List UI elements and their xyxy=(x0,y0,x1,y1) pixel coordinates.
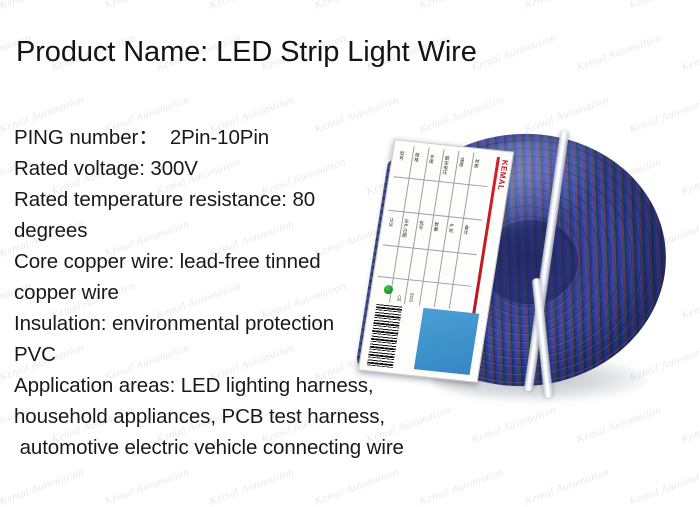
spec-line: degrees xyxy=(14,215,534,246)
watermark-text: Kemal Automation xyxy=(313,466,401,507)
watermark-text: Kemal Automation xyxy=(680,280,700,322)
watermark-text: Kemal Automation xyxy=(0,0,86,12)
watermark-text: Kemal Automation xyxy=(418,0,506,12)
watermark-text: Kemal Automation xyxy=(628,0,700,12)
spec-line: PVC xyxy=(14,339,534,370)
watermark-text: Kemal Automation xyxy=(470,32,558,74)
watermark-text: Kemal Automation xyxy=(680,32,700,74)
watermark-text: Kemal Automation xyxy=(0,466,86,507)
watermark-text: Kemal Automation xyxy=(103,466,191,507)
watermark-text: Kemal Automation xyxy=(208,0,296,12)
watermark-text: Kemal Automation xyxy=(523,466,611,507)
page-title: Product Name: LED Strip Light Wire xyxy=(16,36,477,69)
spec-line: Rated temperature resistance: 80 xyxy=(14,184,534,215)
watermark-text: Kemal Automation xyxy=(680,404,700,446)
spec-line: PING number： 2Pin-10Pin xyxy=(14,122,534,153)
watermark-text: Kemal Automation xyxy=(418,466,506,507)
watermark-text: Kemal Automation xyxy=(103,0,191,12)
spec-line: Insulation: environmental protection xyxy=(14,308,534,339)
watermark-text: Kemal Automation xyxy=(680,156,700,198)
watermark-text: Kemal Automation xyxy=(575,32,663,74)
specification-list: PING number： 2Pin-10Pin Rated voltage: 3… xyxy=(14,122,534,463)
spec-line: copper wire xyxy=(14,277,534,308)
spec-line: Core copper wire: lead-free tinned xyxy=(14,246,534,277)
watermark-text: Kemal Automation xyxy=(628,466,700,507)
watermark-text: Kemal Automation xyxy=(523,0,611,12)
product-image-canvas: KEMAL 型号 规格 长度 额定电压 温度 材质 认证 生产日期 批号 xyxy=(0,0,700,507)
watermark-text: Kemal Automation xyxy=(313,0,401,12)
spec-line: Application areas: LED lighting harness, xyxy=(14,370,534,401)
spec-line: automotive electric vehicle connecting w… xyxy=(14,432,534,463)
spec-line: Rated voltage: 300V xyxy=(14,153,534,184)
watermark-text: Kemal Automation xyxy=(208,466,296,507)
spec-line: household appliances, PCB test harness, xyxy=(14,401,534,432)
